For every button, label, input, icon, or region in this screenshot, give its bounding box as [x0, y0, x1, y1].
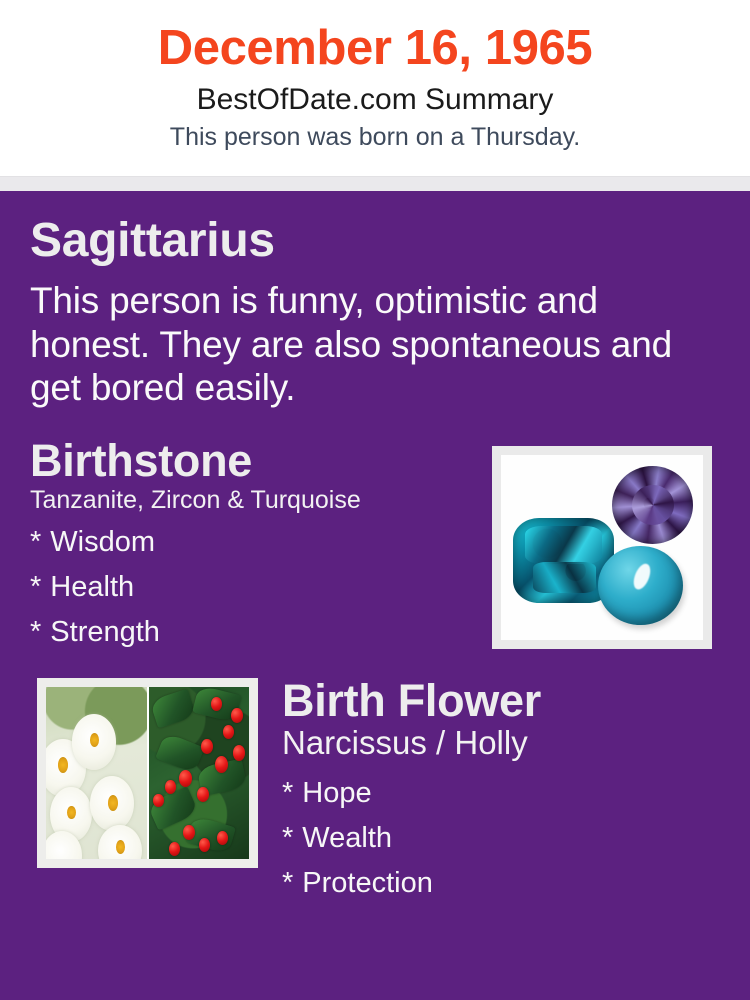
narcissus-corona-icon — [58, 757, 68, 772]
holly-photo-half — [147, 687, 250, 859]
list-item: *Health — [30, 573, 480, 602]
birthstone-trait-label: Wisdom — [50, 526, 155, 558]
holly-berry-icon — [153, 794, 164, 808]
holly-berry-icon — [179, 770, 192, 787]
main-panel: Sagittarius This person is funny, optimi… — [0, 191, 750, 1000]
holly-berry-icon — [215, 756, 228, 773]
list-item: *Wealth — [282, 824, 722, 853]
holly-berry-icon — [183, 825, 195, 840]
tanzanite-gem-icon — [612, 466, 693, 544]
birth-flower-text-block: Birth Flower Narcissus / Holly *Hope *We… — [282, 678, 722, 898]
list-item: *Strength — [30, 618, 480, 647]
holly-berry-icon — [199, 838, 210, 852]
page-title-date: December 16, 1965 — [0, 22, 750, 75]
holly-berry-icon — [231, 708, 243, 723]
zodiac-sign-name: Sagittarius — [30, 217, 720, 265]
bullet-star-icon: * — [30, 571, 41, 603]
day-of-week-note: This person was born on a Thursday. — [0, 123, 750, 152]
zodiac-section: Sagittarius This person is funny, optimi… — [0, 191, 750, 410]
bullet-star-icon: * — [30, 616, 41, 648]
bullet-star-icon: * — [30, 526, 41, 558]
birthstone-trait-label: Strength — [50, 616, 160, 648]
holly-berry-icon — [169, 842, 180, 856]
holly-berry-icon — [233, 745, 245, 760]
list-item: *Protection — [282, 869, 722, 898]
birthstone-trait-label: Health — [50, 571, 134, 603]
birthday-summary-infographic: December 16, 1965 BestOfDate.com Summary… — [0, 0, 750, 1000]
birth-flower-trait-label: Hope — [302, 777, 371, 809]
header: December 16, 1965 BestOfDate.com Summary… — [0, 0, 750, 176]
narcissus-photo-half — [46, 687, 147, 859]
holly-berry-icon — [223, 725, 234, 739]
birthstone-image-frame — [492, 446, 712, 649]
holly-berry-icon — [211, 697, 222, 711]
birth-flower-photo — [46, 687, 249, 859]
birthstone-trait-list: *Wisdom *Health *Strength — [30, 528, 480, 647]
birthstone-text-block: Birthstone Tanzanite, Zircon & Turquoise… — [30, 438, 480, 648]
bullet-star-icon: * — [282, 867, 293, 899]
holly-berry-icon — [197, 787, 209, 802]
turquoise-gem-icon — [598, 546, 683, 626]
zodiac-description: This person is funny, optimistic and hon… — [30, 279, 720, 410]
header-divider — [0, 176, 750, 191]
birth-flower-section: Birth Flower Narcissus / Holly *Hope *We… — [0, 678, 750, 918]
holly-berry-icon — [201, 739, 213, 754]
birth-flower-title: Birth Flower — [282, 678, 722, 723]
birth-flower-trait-label: Wealth — [302, 822, 392, 854]
birthstone-section: Birthstone Tanzanite, Zircon & Turquoise… — [0, 438, 750, 656]
site-brand-label: BestOfDate.com Summary — [0, 83, 750, 118]
holly-berry-icon — [217, 831, 228, 845]
bullet-star-icon: * — [282, 822, 293, 854]
birth-flower-trait-list: *Hope *Wealth *Protection — [282, 779, 722, 898]
bullet-star-icon: * — [282, 777, 293, 809]
holly-berry-icon — [165, 780, 176, 794]
birthstone-gems-photo — [501, 455, 703, 640]
birthstone-names: Tanzanite, Zircon & Turquoise — [30, 487, 480, 515]
birth-flower-names: Narcissus / Holly — [282, 725, 722, 761]
birth-flower-image-frame — [37, 678, 258, 868]
birthstone-title: Birthstone — [30, 438, 480, 483]
list-item: *Hope — [282, 779, 722, 808]
birth-flower-trait-label: Protection — [302, 867, 433, 899]
list-item: *Wisdom — [30, 528, 480, 557]
